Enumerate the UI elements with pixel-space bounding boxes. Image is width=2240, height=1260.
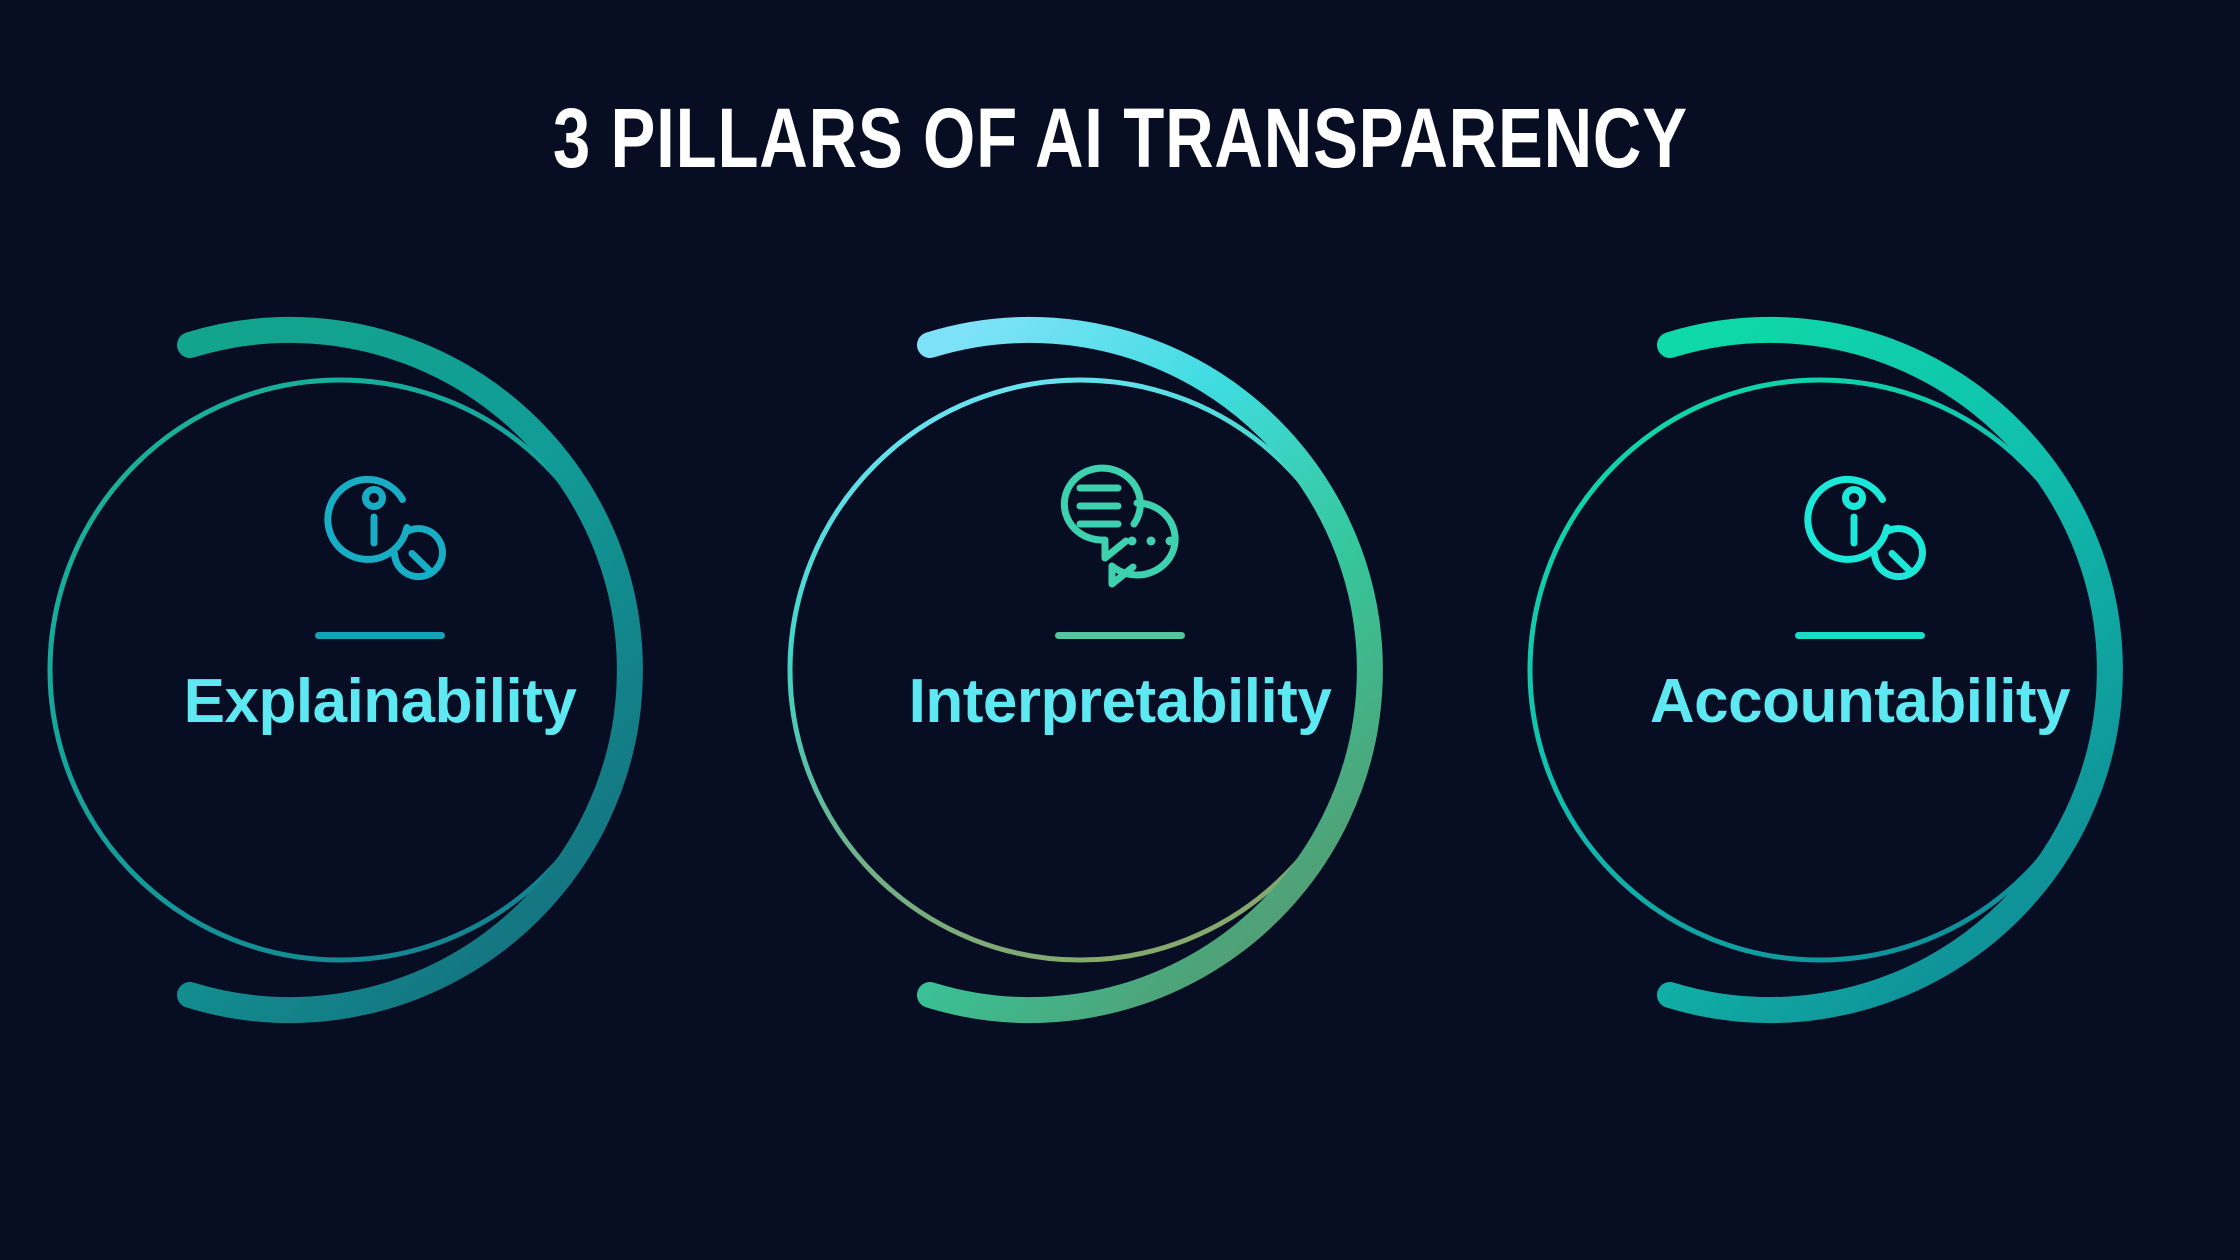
page-title: 3 PILLARS OF AI TRANSPARENCY — [552, 96, 1687, 180]
pillar-explainability[interactable]: Explainability — [30, 270, 730, 1070]
outer-gradient-arc — [1670, 330, 2110, 1010]
pillars-row: Explainability — [0, 270, 2240, 1070]
pillar-accountability[interactable]: Accountability — [1510, 270, 2210, 1070]
pillar-rings-explainability — [30, 270, 730, 1070]
inner-ring-circle — [790, 380, 1370, 960]
inner-ring-circle — [50, 380, 630, 960]
pillar-rings-interpretability — [770, 270, 1470, 1070]
title-container: 3 PILLARS OF AI TRANSPARENCY — [0, 96, 2240, 180]
pillar-rings-accountability — [1510, 270, 2210, 1070]
pillar-interpretability[interactable]: Interpretability — [770, 270, 1470, 1070]
infographic-canvas: 3 PILLARS OF AI TRANSPARENCY — [0, 0, 2240, 1260]
inner-ring-circle — [1530, 380, 2110, 960]
outer-gradient-arc — [930, 330, 1370, 1010]
outer-gradient-arc — [190, 330, 630, 1010]
